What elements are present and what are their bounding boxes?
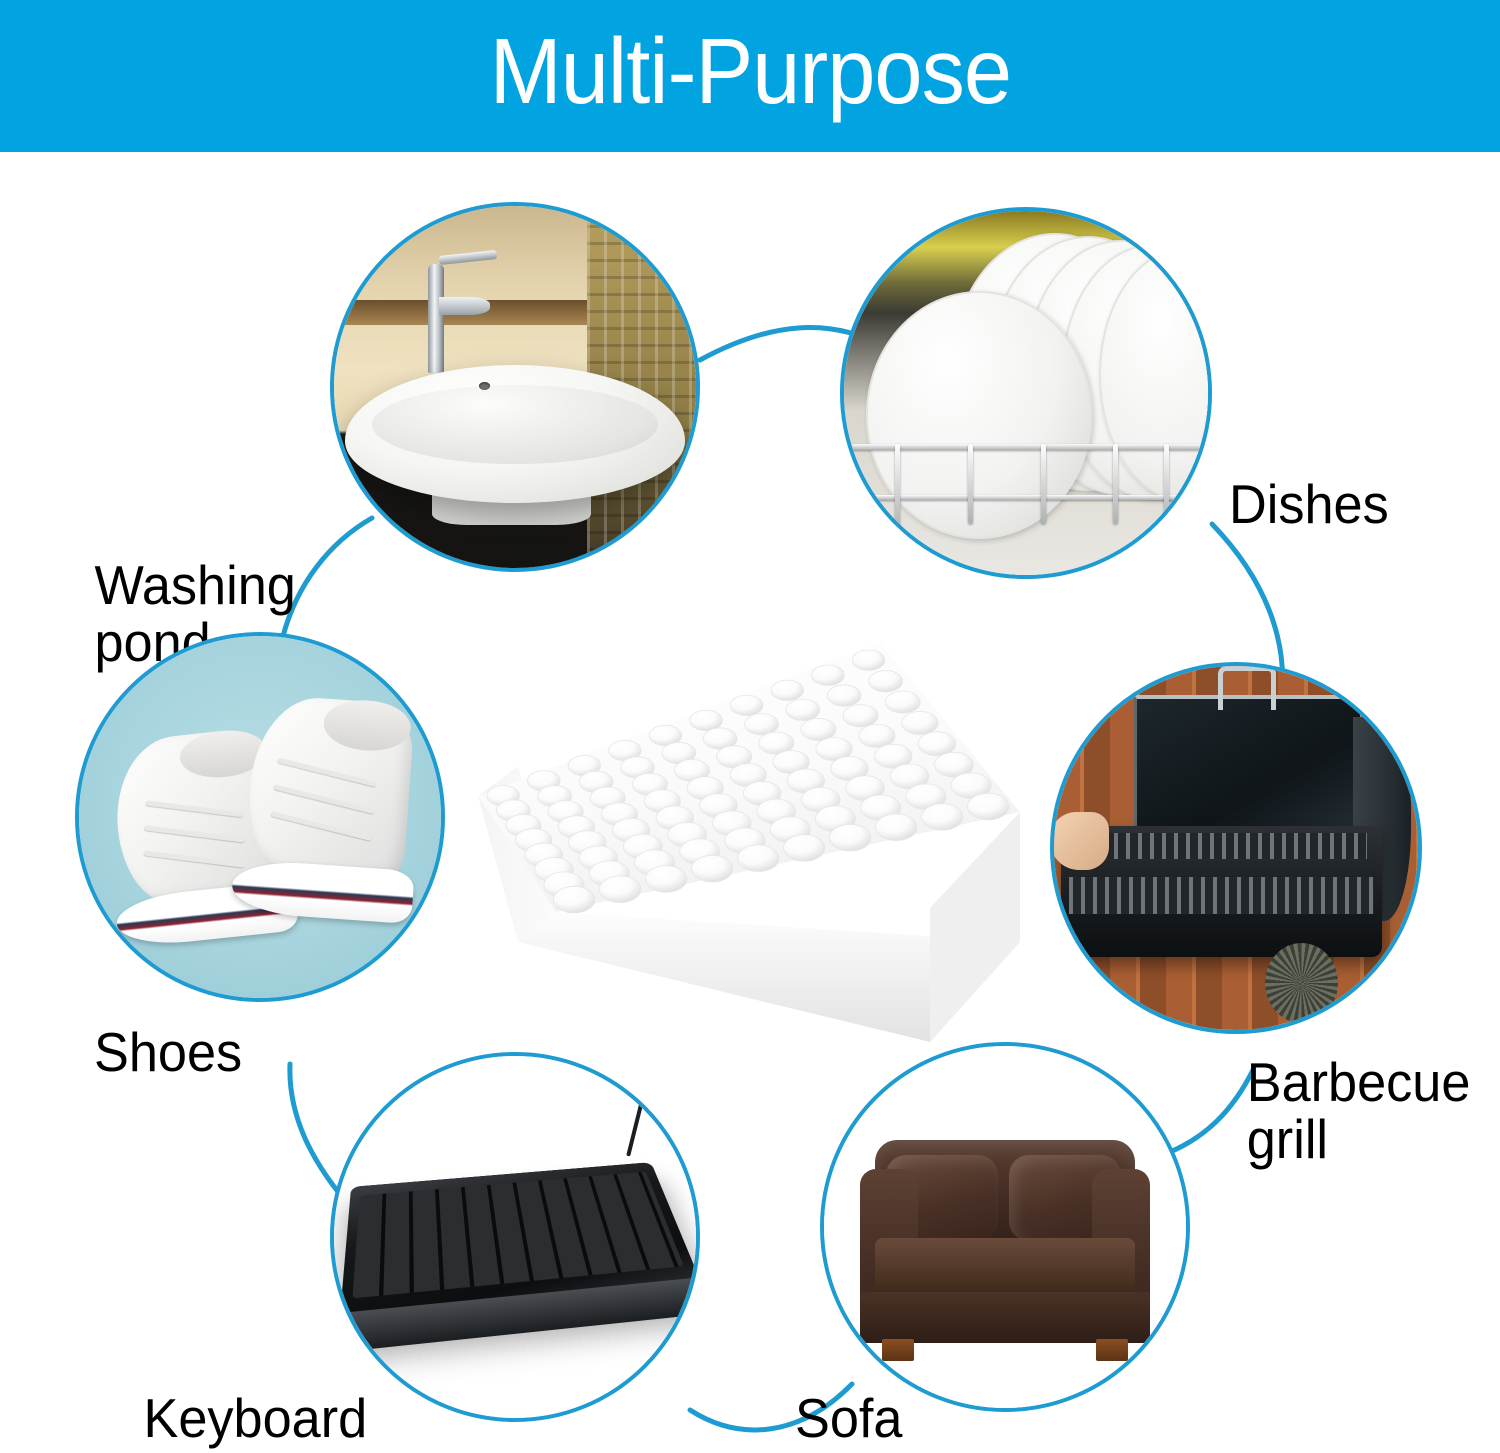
barbecue-grill-photo-circle[interactable]: [1050, 662, 1422, 1034]
white-sneakers-image: [79, 636, 441, 998]
computer-keyboard-image: [334, 1056, 696, 1418]
sponge-dimple: [812, 665, 845, 685]
bathroom-sink-image: [334, 206, 696, 568]
shoes-photo-circle[interactable]: [75, 632, 445, 1002]
sponge-dimple: [922, 804, 963, 831]
sponge-dimple: [852, 650, 885, 670]
keyboard-photo-circle[interactable]: [330, 1052, 700, 1422]
washing-pond-photo-circle[interactable]: [330, 202, 700, 572]
sponge-illustration: [460, 612, 1040, 1072]
sponge-dimple: [859, 724, 895, 747]
sponge-dimple: [745, 714, 779, 735]
infographic-stage: Washing pond Dishes: [0, 152, 1500, 1453]
label-shoes: Shoes: [94, 1024, 322, 1081]
label-sofa: Sofa: [795, 1390, 985, 1447]
dishes-photo-circle[interactable]: [840, 207, 1212, 579]
label-dishes: Dishes: [1229, 476, 1495, 533]
header-banner: Multi-Purpose: [0, 0, 1500, 152]
sponge-dimple: [553, 886, 594, 913]
sponge-dimple: [876, 814, 917, 841]
sponge-dimple: [968, 793, 1009, 820]
sponge-dimple: [784, 835, 825, 862]
sponge-dimple: [801, 718, 836, 740]
sponge-dimple: [690, 710, 723, 730]
sponge-dimple: [902, 711, 938, 734]
label-keyboard: Keyboard: [144, 1390, 429, 1447]
sponge-dimple: [771, 680, 804, 700]
label-barbecue-grill: Barbecue grill: [1247, 1054, 1500, 1168]
sponge-dimple: [599, 876, 640, 903]
sponge-dimple: [692, 855, 733, 882]
sponge-dimple: [869, 670, 903, 691]
sponge-dimple: [738, 845, 779, 872]
sponge-dimple: [827, 685, 861, 706]
sponge-dimple: [830, 824, 871, 851]
sponge-dimple: [786, 699, 820, 720]
sponge-dimple: [730, 695, 763, 715]
sofa-photo-circle[interactable]: [820, 1042, 1190, 1412]
sponge-dimple: [646, 866, 687, 893]
page-title: Multi-Purpose: [489, 25, 1010, 128]
dish-rack-image: [844, 211, 1208, 575]
leather-sofa-image: [824, 1046, 1186, 1408]
center-product-sponge: [460, 612, 1040, 1072]
sponge-dimple: [843, 705, 878, 727]
barbecue-grill-image: [1054, 666, 1418, 1030]
sponge-dimple: [885, 691, 920, 713]
